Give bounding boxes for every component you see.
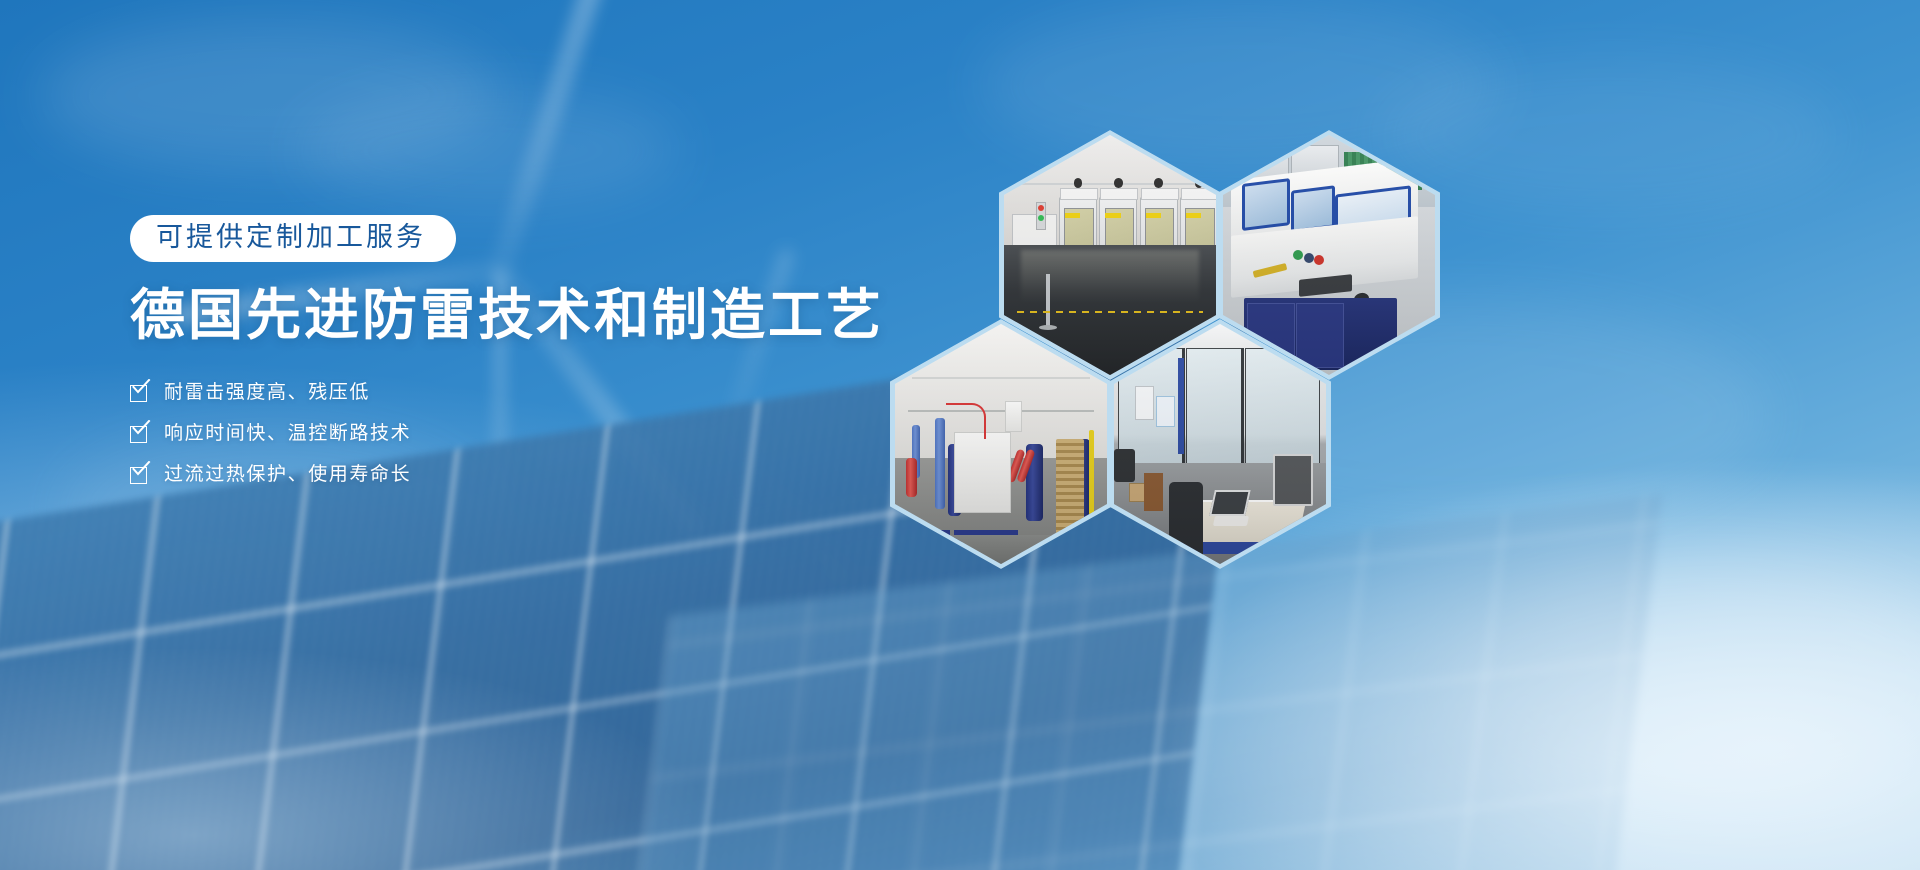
banner-copy: 可提供定制加工服务 德国先进防雷技术和制造工艺 耐雷击强度高、残压低 bbox=[130, 215, 850, 506]
feature-item: 响应时间快、温控断路技术 bbox=[130, 424, 850, 443]
feature-label: 过流过热保护、使用寿命长 bbox=[164, 465, 411, 484]
feature-list: 耐雷击强度高、残压低 响应时间快、温控断路技术 过流 bbox=[130, 383, 850, 484]
feature-label: 耐雷击强度高、残压低 bbox=[164, 383, 370, 402]
feature-label: 响应时间快、温控断路技术 bbox=[164, 424, 411, 443]
checkbox-check-icon bbox=[130, 383, 149, 402]
checkbox-check-icon bbox=[130, 465, 149, 484]
custom-service-badge: 可提供定制加工服务 bbox=[130, 215, 456, 262]
feature-item: 过流过热保护、使用寿命长 bbox=[130, 465, 850, 484]
hero-banner: 可提供定制加工服务 德国先进防雷技术和制造工艺 耐雷击强度高、残压低 bbox=[0, 0, 1920, 870]
checkbox-check-icon bbox=[130, 424, 149, 443]
banner-headline: 德国先进防雷技术和制造工艺 bbox=[130, 284, 850, 347]
feature-item: 耐雷击强度高、残压低 bbox=[130, 383, 850, 402]
hexagon-photo-gallery bbox=[780, 130, 1500, 650]
